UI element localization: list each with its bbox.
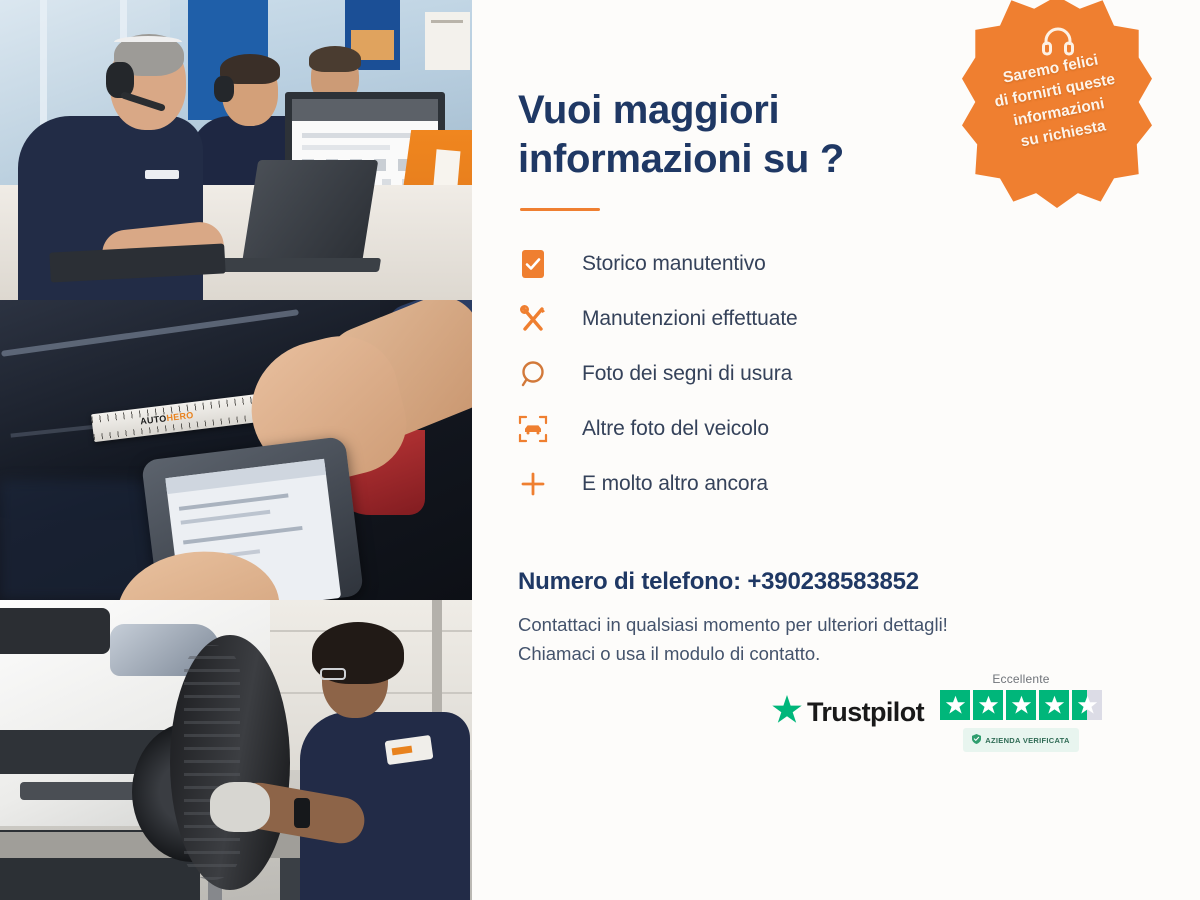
list-item-label: Manutenzioni effettuate (582, 307, 798, 331)
shield-check-icon (972, 731, 981, 749)
trustpilot-star-icon (772, 695, 802, 729)
search-magnifier-icon (518, 359, 548, 389)
tools-wrench-screwdriver-icon (518, 304, 548, 334)
list-item: Altre foto del veicolo (518, 402, 1200, 457)
laptop-base (199, 258, 381, 272)
trustpilot-logo: Trustpilot (772, 695, 924, 729)
star-rating (940, 690, 1102, 720)
contact-text: Contattaci in qualsiasi momento per ulte… (518, 610, 1200, 668)
list-item-label: Foto dei segni di usura (582, 362, 792, 386)
mechanic-person (300, 620, 472, 900)
list-item-label: Storico manutentivo (582, 252, 766, 276)
trustpilot-rating: Eccellente (940, 672, 1102, 752)
page-title: Vuoi maggiori informazioni su ? (518, 86, 938, 184)
wall-notice (425, 12, 470, 70)
service-badge: Saremo felici di fornirti queste informa… (962, 0, 1152, 208)
document-check-icon (518, 249, 548, 279)
laptop-screen (242, 160, 379, 265)
star-half-icon (1072, 690, 1102, 720)
list-item-label: Altre foto del veicolo (582, 417, 769, 441)
plus-icon (518, 470, 548, 498)
promo-page: AUTOHERO (0, 0, 1200, 900)
list-item: Foto dei segni di usura (518, 347, 1200, 402)
star-filled-icon (1039, 690, 1069, 720)
call-center-agents-photo (0, 0, 472, 300)
ruler-brand-part1: AUTO (140, 413, 168, 426)
rating-label: Eccellente (992, 672, 1049, 686)
title-divider (520, 208, 600, 211)
trustpilot-widget[interactable]: Trustpilot Eccellente (772, 672, 1102, 752)
list-item: Manutenzioni effettuate (518, 292, 1200, 347)
ruler-brand-part2: HERO (166, 410, 194, 423)
verified-company-badge: AZIENDA VERIFICATA (963, 728, 1078, 752)
vehicle-inspection-photo: AUTOHERO (0, 300, 472, 600)
photo-column: AUTOHERO (0, 0, 472, 900)
feature-list: Storico manutentivo Manutenzioni effettu… (518, 237, 1200, 512)
tire (170, 635, 290, 890)
headline-line-1: Vuoi maggiori (518, 88, 779, 132)
trustpilot-wordmark: Trustpilot (807, 697, 924, 728)
car-scan-frame-icon (518, 414, 548, 444)
list-item-label: E molto altro ancora (582, 472, 768, 496)
star-filled-icon (1006, 690, 1036, 720)
contact-line-2: Chiamaci o usa il modulo di contatto. (518, 643, 820, 664)
star-filled-icon (973, 690, 1003, 720)
list-item: Storico manutentivo (518, 237, 1200, 292)
verified-label: AZIENDA VERIFICATA (985, 736, 1069, 745)
star-filled-icon (940, 690, 970, 720)
car-grille (0, 608, 110, 654)
contact-line-1: Contattaci in qualsiasi momento per ulte… (518, 614, 948, 635)
headline-line-2: informazioni su ? (518, 137, 844, 181)
phone-number[interactable]: Numero di telefono: +390238583852 (518, 568, 1200, 596)
content-panel: Vuoi maggiori informazioni su ? Storico … (472, 0, 1200, 900)
mechanic-tire-check-photo (0, 600, 472, 900)
list-item: E molto altro ancora (518, 457, 1200, 512)
